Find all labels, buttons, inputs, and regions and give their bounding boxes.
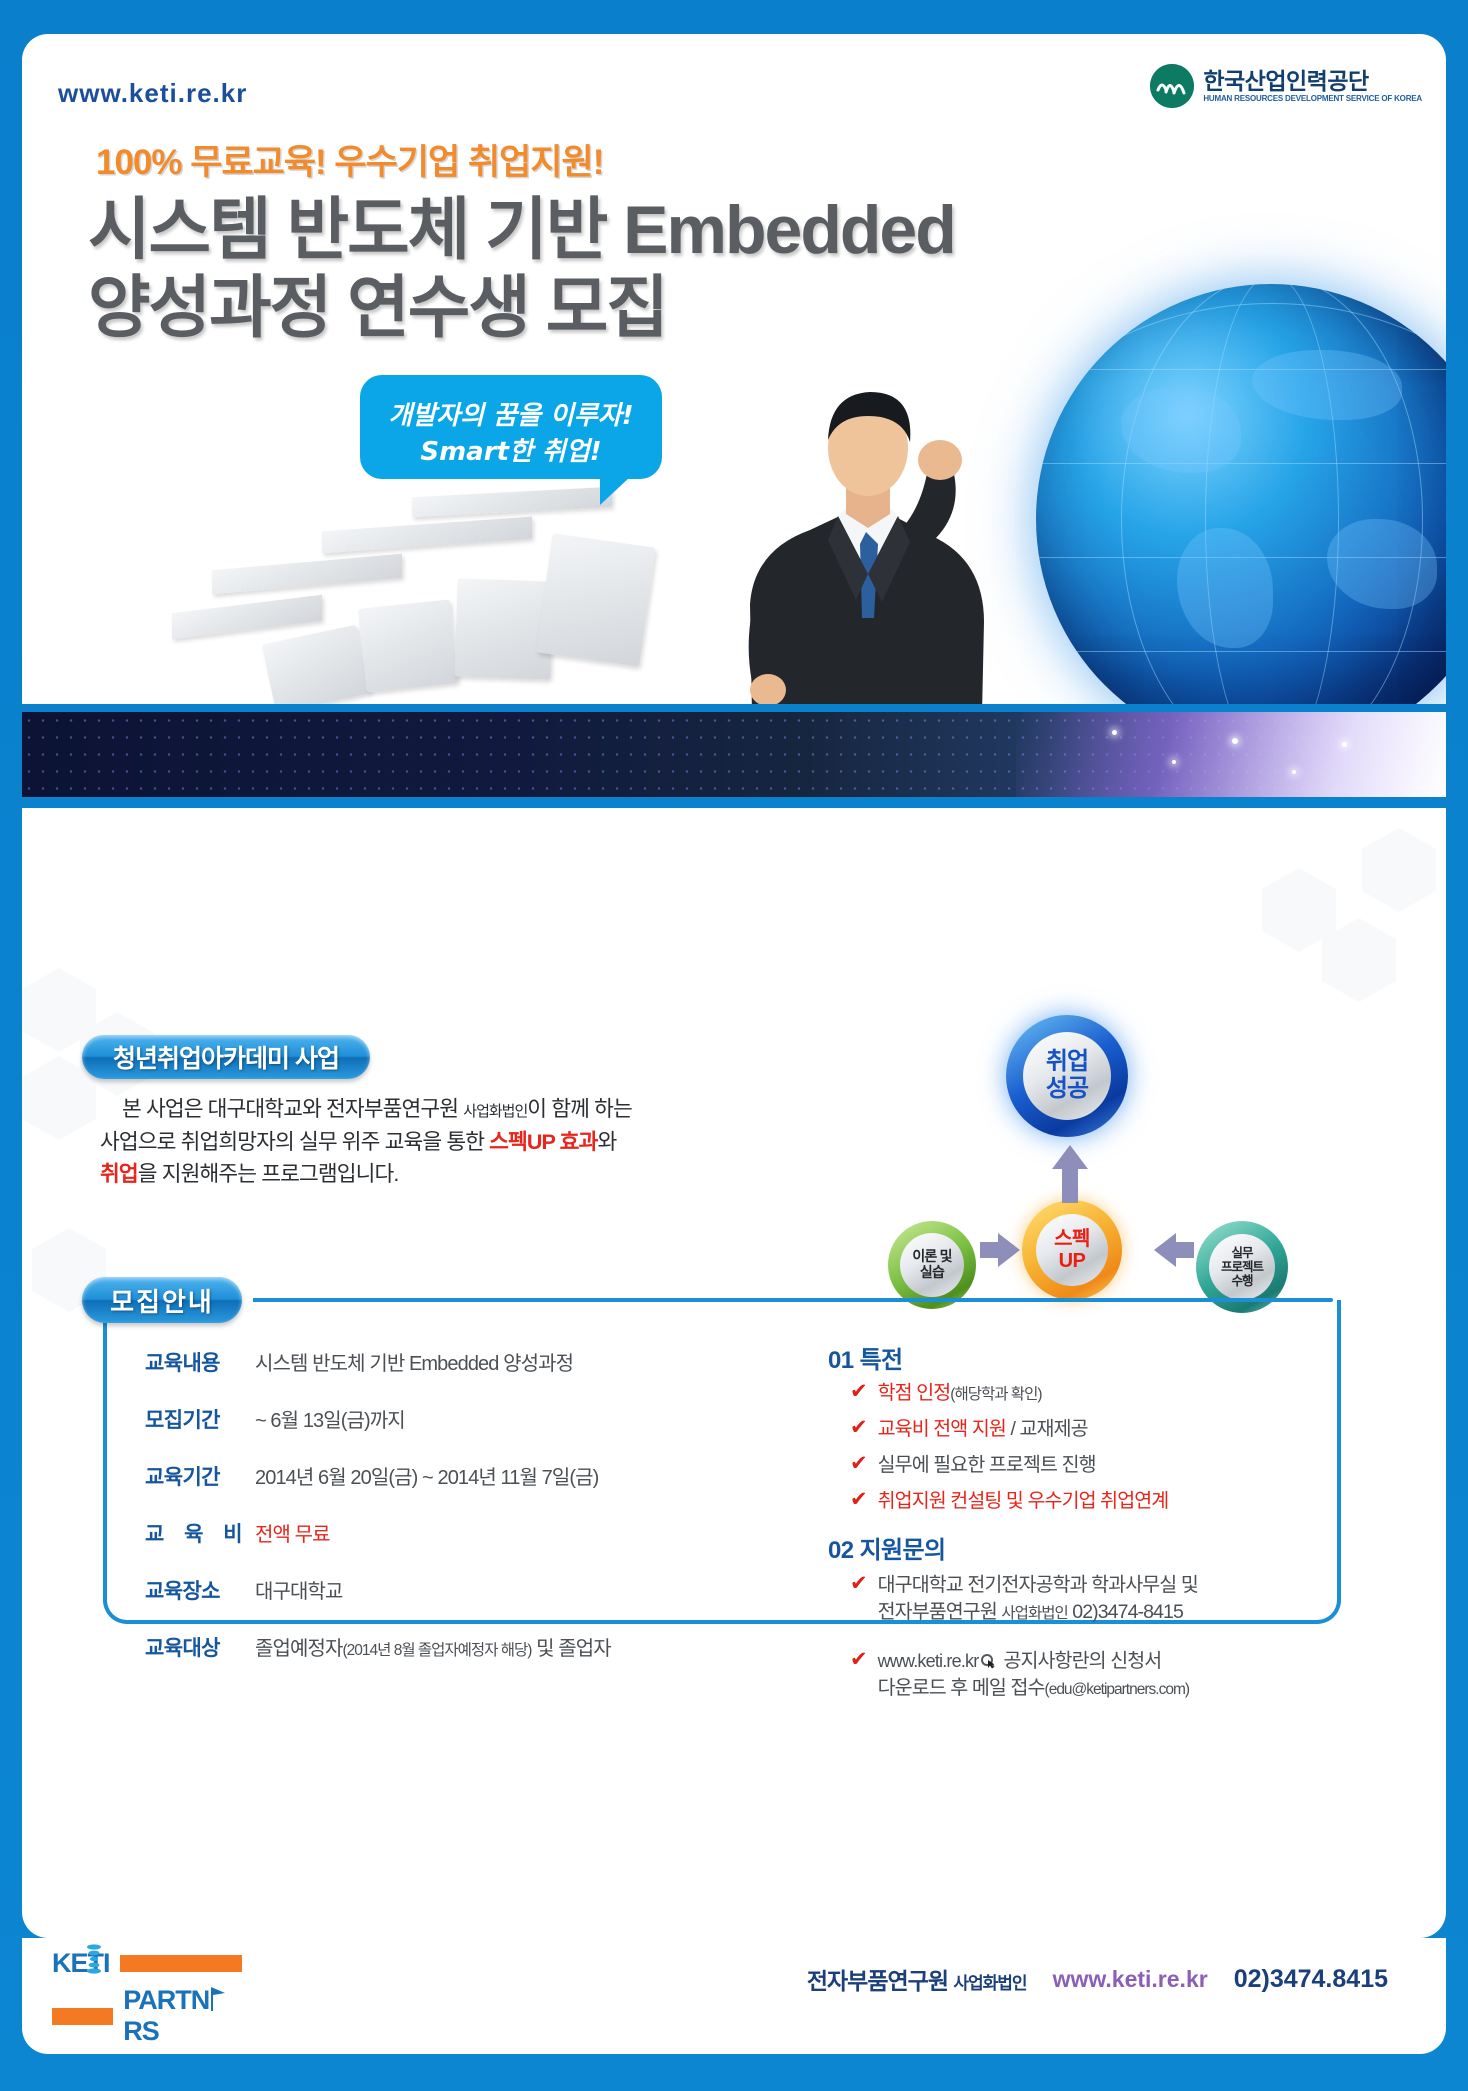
table-row: 교 육 비 전액 무료 (145, 1518, 765, 1548)
check-icon: ✔ (850, 1416, 868, 1439)
list-item: ✔ 교육비 전액 지원 / 교재제공 (850, 1416, 1310, 1443)
contact-0-line1: 대구대학교 전기전자공학과 학과사무실 및 (878, 1574, 1198, 1596)
arrow-right-icon (980, 1233, 1020, 1267)
intro-p2-highlight: 스펙UP 효과 (489, 1130, 597, 1154)
benefit-text-3: 취업지원 컨설팅 및 우수기업 취업연계 (878, 1488, 1169, 1515)
academy-intro-paragraph: 본 사업은 대구대학교와 전자부품연구원 사업화법인이 함께 하는 사업으로 취… (100, 1093, 680, 1191)
hero-website-url[interactable]: www.keti.re.kr (58, 78, 247, 109)
list-item: ✔ 학점 인정(해당학과 확인) (850, 1380, 1310, 1407)
hrd-logo-english: HUMAN RESOURCES DEVELOPMENT SERVICE OF K… (1203, 95, 1422, 103)
orb-spec-line1: 스펙 (1054, 1228, 1090, 1250)
diagram-orb-spec-core: 스펙 UP (1036, 1214, 1108, 1286)
speech-bubble-line2: Smart한 취업! (360, 431, 662, 468)
table-row: 교육내용 시스템 반도체 기반 Embedded 양성과정 (145, 1347, 765, 1377)
check-icon: ✔ (850, 1488, 868, 1511)
contact-text-1: www.keti.re.kr공지사항란의 신청서 다운로드 후 메일 접수(ed… (878, 1648, 1189, 1701)
row-key-5: 교육대상 (145, 1632, 255, 1662)
table-row: 모집기간 ~ 6월 13일(금)까지 (145, 1404, 765, 1434)
row-value-0: 시스템 반도체 기반 Embedded 양성과정 (255, 1347, 573, 1376)
row-key-2: 교육기간 (145, 1461, 255, 1491)
row-value-2: 2014년 6월 20일(금) ~ 2014년 11월 7일(금) (255, 1461, 598, 1490)
row-key-1: 모집기간 (145, 1404, 255, 1434)
contact-1-url[interactable]: www.keti.re.kr (878, 1651, 979, 1671)
arrow-up-icon (1048, 1145, 1092, 1203)
banner-light-flare (1016, 712, 1446, 797)
contact-heading: 02 지원문의 (828, 1530, 945, 1565)
table-row: 교육대상 졸업예정자(2014년 8월 졸업자예정자 해당) 및 졸업자 (145, 1632, 845, 1662)
contact-0-line2a: 전자부품연구원 (878, 1601, 1002, 1623)
benefit-text-2: 실무에 필요한 프로젝트 진행 (878, 1452, 1096, 1479)
benefit-2-rest: 실무에 필요한 프로젝트 진행 (878, 1454, 1096, 1476)
footer-org-name: 전자부품연구원 (807, 1968, 954, 1994)
benefit-0-red: 학점 인정 (878, 1382, 951, 1404)
recruitment-box-top-border (103, 1298, 1333, 1302)
orb-project-line1: 실무 (1231, 1246, 1252, 1260)
table-row: 교육장소 대구대학교 (145, 1575, 765, 1605)
row-value-5-main: 졸업예정자 (255, 1638, 343, 1660)
poster-root: 개발자의 꿈을 이루자! Smart한 취업! www.keti.re.kr 한… (0, 0, 1468, 2091)
hrd-logo-text: 한국산업인력공단 HUMAN RESOURCES DEVELOPMENT SER… (1203, 69, 1422, 104)
benefit-3-red: 취업지원 컨설팅 및 우수기업 취업연계 (878, 1490, 1169, 1512)
click-icon (981, 1650, 1000, 1665)
spec-up-diagram: 취업 성공 스펙 UP 이론 및 실습 실무 프로젝트 수행 (888, 1015, 1298, 1305)
diagram-orb-theory-core: 이론 및 실습 (900, 1233, 964, 1297)
decorative-dark-banner (22, 712, 1446, 797)
contact-0-line2-tiny: 사업화법인 (1001, 1605, 1067, 1622)
keti-dots-icon (85, 1944, 103, 1974)
list-item: ✔ www.keti.re.kr공지사항란의 신청서 다운로드 후 메일 접수(… (850, 1648, 1390, 1701)
intro-p3-highlight: 취업 (100, 1162, 138, 1186)
benefit-1-red: 교육비 전액 지원 (878, 1418, 1006, 1440)
orb-success-line1: 취업 (1046, 1049, 1088, 1076)
footer-contact-info: 전자부품연구원 사업화법인 www.keti.re.kr 02)3474.841… (807, 1962, 1388, 1996)
check-icon: ✔ (850, 1648, 868, 1671)
diagram-orb-spec-up: 스펙 UP (1022, 1200, 1122, 1300)
orb-theory-line1: 이론 및 (912, 1249, 951, 1265)
row-value-4: 대구대학교 (255, 1575, 343, 1604)
contact-text-0: 대구대학교 전기전자공학과 학과사무실 및 전자부품연구원 사업화법인 02)3… (878, 1572, 1198, 1625)
orb-success-line2: 성공 (1046, 1076, 1088, 1103)
list-item: ✔ 실무에 필요한 프로젝트 진행 (850, 1452, 1310, 1479)
row-value-5-tail: 및 졸업자 (531, 1638, 610, 1660)
benefit-0-tiny: (해당학과 확인) (950, 1386, 1041, 1403)
row-value-5-note: (2014년 8월 졸업자예정자 해당) (343, 1642, 532, 1659)
logo-orange-bar-bottom (52, 2008, 113, 2025)
intro-p3b: 을 지원해주는 프로그램입니다. (138, 1162, 399, 1186)
footer-website-url[interactable]: www.keti.re.kr (1053, 1966, 1208, 1993)
arrow-left-icon (1154, 1233, 1194, 1267)
benefit-1-rest: / 교재제공 (1006, 1418, 1088, 1440)
section-heading-recruitment: 모집안내 (82, 1277, 242, 1323)
hero-card: 개발자의 꿈을 이루자! Smart한 취업! www.keti.re.kr 한… (22, 34, 1446, 704)
keti-wordmark: KETI (52, 1948, 110, 1979)
diagram-orb-success: 취업 성공 (1006, 1015, 1128, 1137)
hrd-logo-korean: 한국산업인력공단 (1203, 69, 1422, 93)
check-icon: ✔ (850, 1380, 868, 1403)
check-icon: ✔ (850, 1452, 868, 1475)
footer-phone-number: 02)3474.8415 (1234, 1965, 1388, 1994)
orb-spec-line2: UP (1059, 1250, 1086, 1272)
businessman-photo (632, 364, 1072, 704)
contact-1-rest: 공지사항란의 신청서 (1003, 1650, 1161, 1672)
row-key-0: 교육내용 (145, 1347, 255, 1377)
keti-partners-logo: KETI PARTN RS (52, 1948, 242, 2010)
footer-org-suffix: 사업화법인 (953, 1974, 1026, 1993)
row-value-1: ~ 6월 13일(금)까지 (255, 1404, 405, 1433)
orb-project-line2: 프로젝트 (1221, 1260, 1263, 1274)
contact-1-email[interactable]: (edu@ketipartners.com) (1045, 1681, 1190, 1698)
orb-theory-line2: 실습 (920, 1265, 944, 1281)
speech-bubble-line1: 개발자의 꿈을 이루자! (360, 395, 662, 432)
partners-wordmark: PARTN RS (123, 1985, 242, 2047)
hrd-mark-icon (1150, 64, 1194, 108)
partners-wordmark-text: PARTN RS (123, 1985, 209, 2046)
speech-bubble: 개발자의 꿈을 이루자! Smart한 취업! (360, 375, 662, 479)
diagram-orb-success-core: 취업 성공 (1023, 1032, 1111, 1120)
table-row: 교육기간 2014년 6월 20일(금) ~ 2014년 11월 7일(금) (145, 1461, 825, 1491)
row-value-3: 전액 무료 (255, 1518, 330, 1547)
list-item: ✔ 대구대학교 전기전자공학과 학과사무실 및 전자부품연구원 사업화법인 02… (850, 1572, 1370, 1625)
footer: KETI PARTN RS (0, 1938, 1468, 2091)
hero-title-line2: 양성과정 연수생 모집 (88, 252, 667, 351)
partners-flag-icon (207, 1985, 227, 2011)
contact-0-line2b: 02)3474-8415 (1068, 1601, 1183, 1623)
logo-orange-bar-top (120, 1955, 242, 1972)
row-value-5: 졸업예정자(2014년 8월 졸업자예정자 해당) 및 졸업자 (255, 1632, 611, 1661)
intro-p1a: 본 사업은 대구대학교와 전자부품연구원 (122, 1097, 463, 1121)
orb-project-line3: 수행 (1231, 1274, 1252, 1288)
section-heading-academy: 청년취업아카데미 사업 (82, 1035, 370, 1079)
diagram-orb-theory: 이론 및 실습 (888, 1221, 976, 1309)
contact-1-line2a: 다운로드 후 메일 접수 (878, 1677, 1045, 1699)
row-key-4: 교육장소 (145, 1575, 255, 1605)
check-icon: ✔ (850, 1572, 868, 1595)
benefits-heading: 01 특전 (828, 1340, 903, 1375)
intro-p2b: 와 (597, 1130, 616, 1154)
intro-p1-small: 사업화법인 (463, 1103, 527, 1120)
diagram-orb-project-core: 실무 프로젝트 수행 (1209, 1234, 1275, 1300)
intro-p2a: 사업으로 취업희망자의 실무 위주 교육을 통한 (100, 1130, 489, 1154)
intro-p1b: 이 함께 하는 (527, 1097, 632, 1121)
row-key-3: 교 육 비 (145, 1518, 255, 1548)
footer-organization: 전자부품연구원 사업화법인 (807, 1962, 1027, 1996)
hrd-korea-logo: 한국산업인력공단 HUMAN RESOURCES DEVELOPMENT SER… (1150, 64, 1422, 108)
benefit-text-0: 학점 인정(해당학과 확인) (878, 1380, 1042, 1407)
benefit-text-1: 교육비 전액 지원 / 교재제공 (878, 1416, 1088, 1443)
list-item: ✔ 취업지원 컨설팅 및 우수기업 취업연계 (850, 1488, 1370, 1515)
